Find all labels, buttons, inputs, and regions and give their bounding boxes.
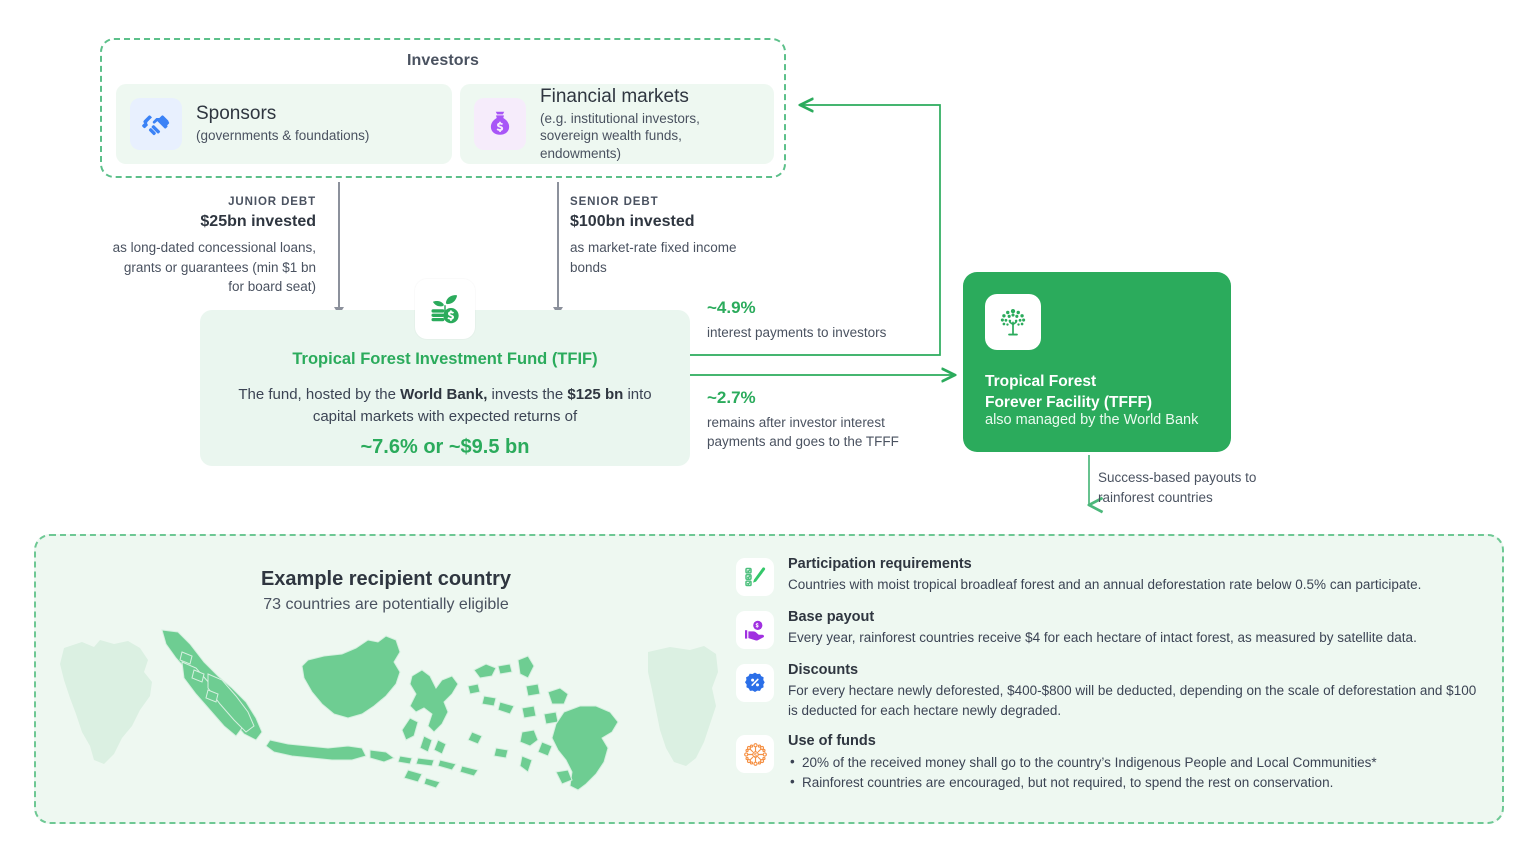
junior-debt-amount: $25bn invested — [108, 213, 316, 231]
feature-base-payout: Base payout Every year, rainforest count… — [736, 609, 1481, 649]
senior-debt-kicker: SENIOR DEBT — [570, 196, 760, 208]
feature-title: Participation requirements — [788, 556, 1421, 572]
map-country-africa-faded — [648, 646, 718, 766]
tfif-description: The fund, hosted by the World Bank, inve… — [228, 384, 662, 428]
map-title: Example recipient country — [66, 568, 706, 591]
payout-annotation: Success-based payouts to rainforest coun… — [1098, 468, 1288, 507]
feature-bullet: Rainforest countries are encouraged, but… — [788, 773, 1377, 793]
tfif-body-bold-amount: $125 bn — [567, 386, 623, 403]
infographic-canvas: Investors Sponsors (governments & founda… — [0, 0, 1536, 864]
svg-text:$: $ — [754, 753, 757, 759]
tfif-body-mid: invests the — [487, 386, 567, 403]
plant-money-icon — [415, 279, 475, 339]
recipient-country-panel: Example recipient country 73 countries a… — [34, 534, 1504, 824]
handshake-icon — [130, 98, 182, 150]
checklist-pen-icon — [736, 558, 774, 596]
financial-markets-title: Financial markets — [540, 86, 760, 108]
map-subtitle: 73 countries are potentially eligible — [66, 596, 706, 614]
investor-card-sponsors[interactable]: Sponsors (governments & foundations) — [116, 84, 452, 164]
feature-bullet-list: 20% of the received money shall go to th… — [788, 753, 1377, 794]
interest-flow-annotation: ~4.9% interest payments to investors — [707, 298, 937, 343]
investors-title: Investors — [102, 52, 784, 70]
sponsors-subtitle: (governments & foundations) — [196, 127, 369, 145]
money-bag-icon — [474, 98, 526, 150]
tfff-title: Tropical Forest Forever Facility (TFFF) — [985, 372, 1215, 414]
feature-participation-requirements: Participation requirements Countries wit… — [736, 556, 1481, 596]
feature-text: Countries with moist tropical broadleaf … — [788, 575, 1421, 595]
tfif-body-prefix: The fund, hosted by the — [238, 386, 400, 403]
remainder-description: remains after investor interest payments… — [707, 414, 922, 452]
senior-debt-annotation: SENIOR DEBT $100bn invested as market-ra… — [570, 196, 760, 277]
tree-icon — [985, 294, 1041, 350]
map-country-indonesia — [162, 630, 618, 790]
feature-title: Discounts — [788, 662, 1481, 678]
tfff-card: Tropical Forest Forever Facility (TFFF) … — [963, 272, 1231, 452]
hand-coin-icon — [736, 611, 774, 649]
sponsors-title: Sponsors — [196, 103, 369, 125]
tfff-subtitle: also managed by the World Bank — [985, 412, 1225, 428]
tfif-expected-return: ~7.6% or ~$9.5 bn — [200, 436, 690, 459]
remainder-flow-annotation: ~2.7% remains after investor interest pa… — [707, 388, 922, 452]
feature-text: For every hectare newly deforested, $400… — [788, 681, 1481, 720]
senior-debt-description: as market-rate fixed income bonds — [570, 238, 760, 277]
junior-debt-annotation: JUNIOR DEBT $25bn invested as long-dated… — [108, 196, 316, 297]
junior-debt-kicker: JUNIOR DEBT — [108, 196, 316, 208]
world-map-illustration — [56, 614, 726, 809]
tfif-body-bold-worldbank: World Bank, — [400, 386, 487, 403]
senior-debt-amount: $100bn invested — [570, 213, 760, 231]
junior-debt-arrow — [338, 182, 340, 314]
investors-group: Investors Sponsors (governments & founda… — [100, 38, 786, 178]
investor-card-financial-markets[interactable]: Financial markets (e.g. institutional in… — [460, 84, 774, 164]
junior-debt-description: as long-dated concessional loans, grants… — [108, 238, 316, 297]
feature-title: Use of funds — [788, 733, 1377, 749]
tfif-title: Tropical Forest Investment Fund (TFIF) — [200, 350, 690, 369]
senior-debt-arrow — [557, 182, 559, 314]
money-network-icon: $ — [736, 735, 774, 773]
feature-text: Every year, rainforest countries receive… — [788, 628, 1417, 648]
feature-use-of-funds: $ Use of funds 20% of the received money… — [736, 733, 1481, 794]
interest-percent: ~4.9% — [707, 298, 937, 318]
feature-list: Participation requirements Countries wit… — [736, 556, 1481, 807]
financial-markets-subtitle: (e.g. institutional investors, sovereign… — [540, 110, 760, 163]
feature-discounts: Discounts For every hectare newly defore… — [736, 662, 1481, 720]
feature-bullet: 20% of the received money shall go to th… — [788, 753, 1377, 773]
interest-description: interest payments to investors — [707, 324, 937, 343]
map-country-brazil-faded — [60, 640, 152, 764]
feature-title: Base payout — [788, 609, 1417, 625]
percent-badge-icon — [736, 664, 774, 702]
remainder-percent: ~2.7% — [707, 388, 922, 408]
map-title-group: Example recipient country 73 countries a… — [66, 568, 706, 614]
